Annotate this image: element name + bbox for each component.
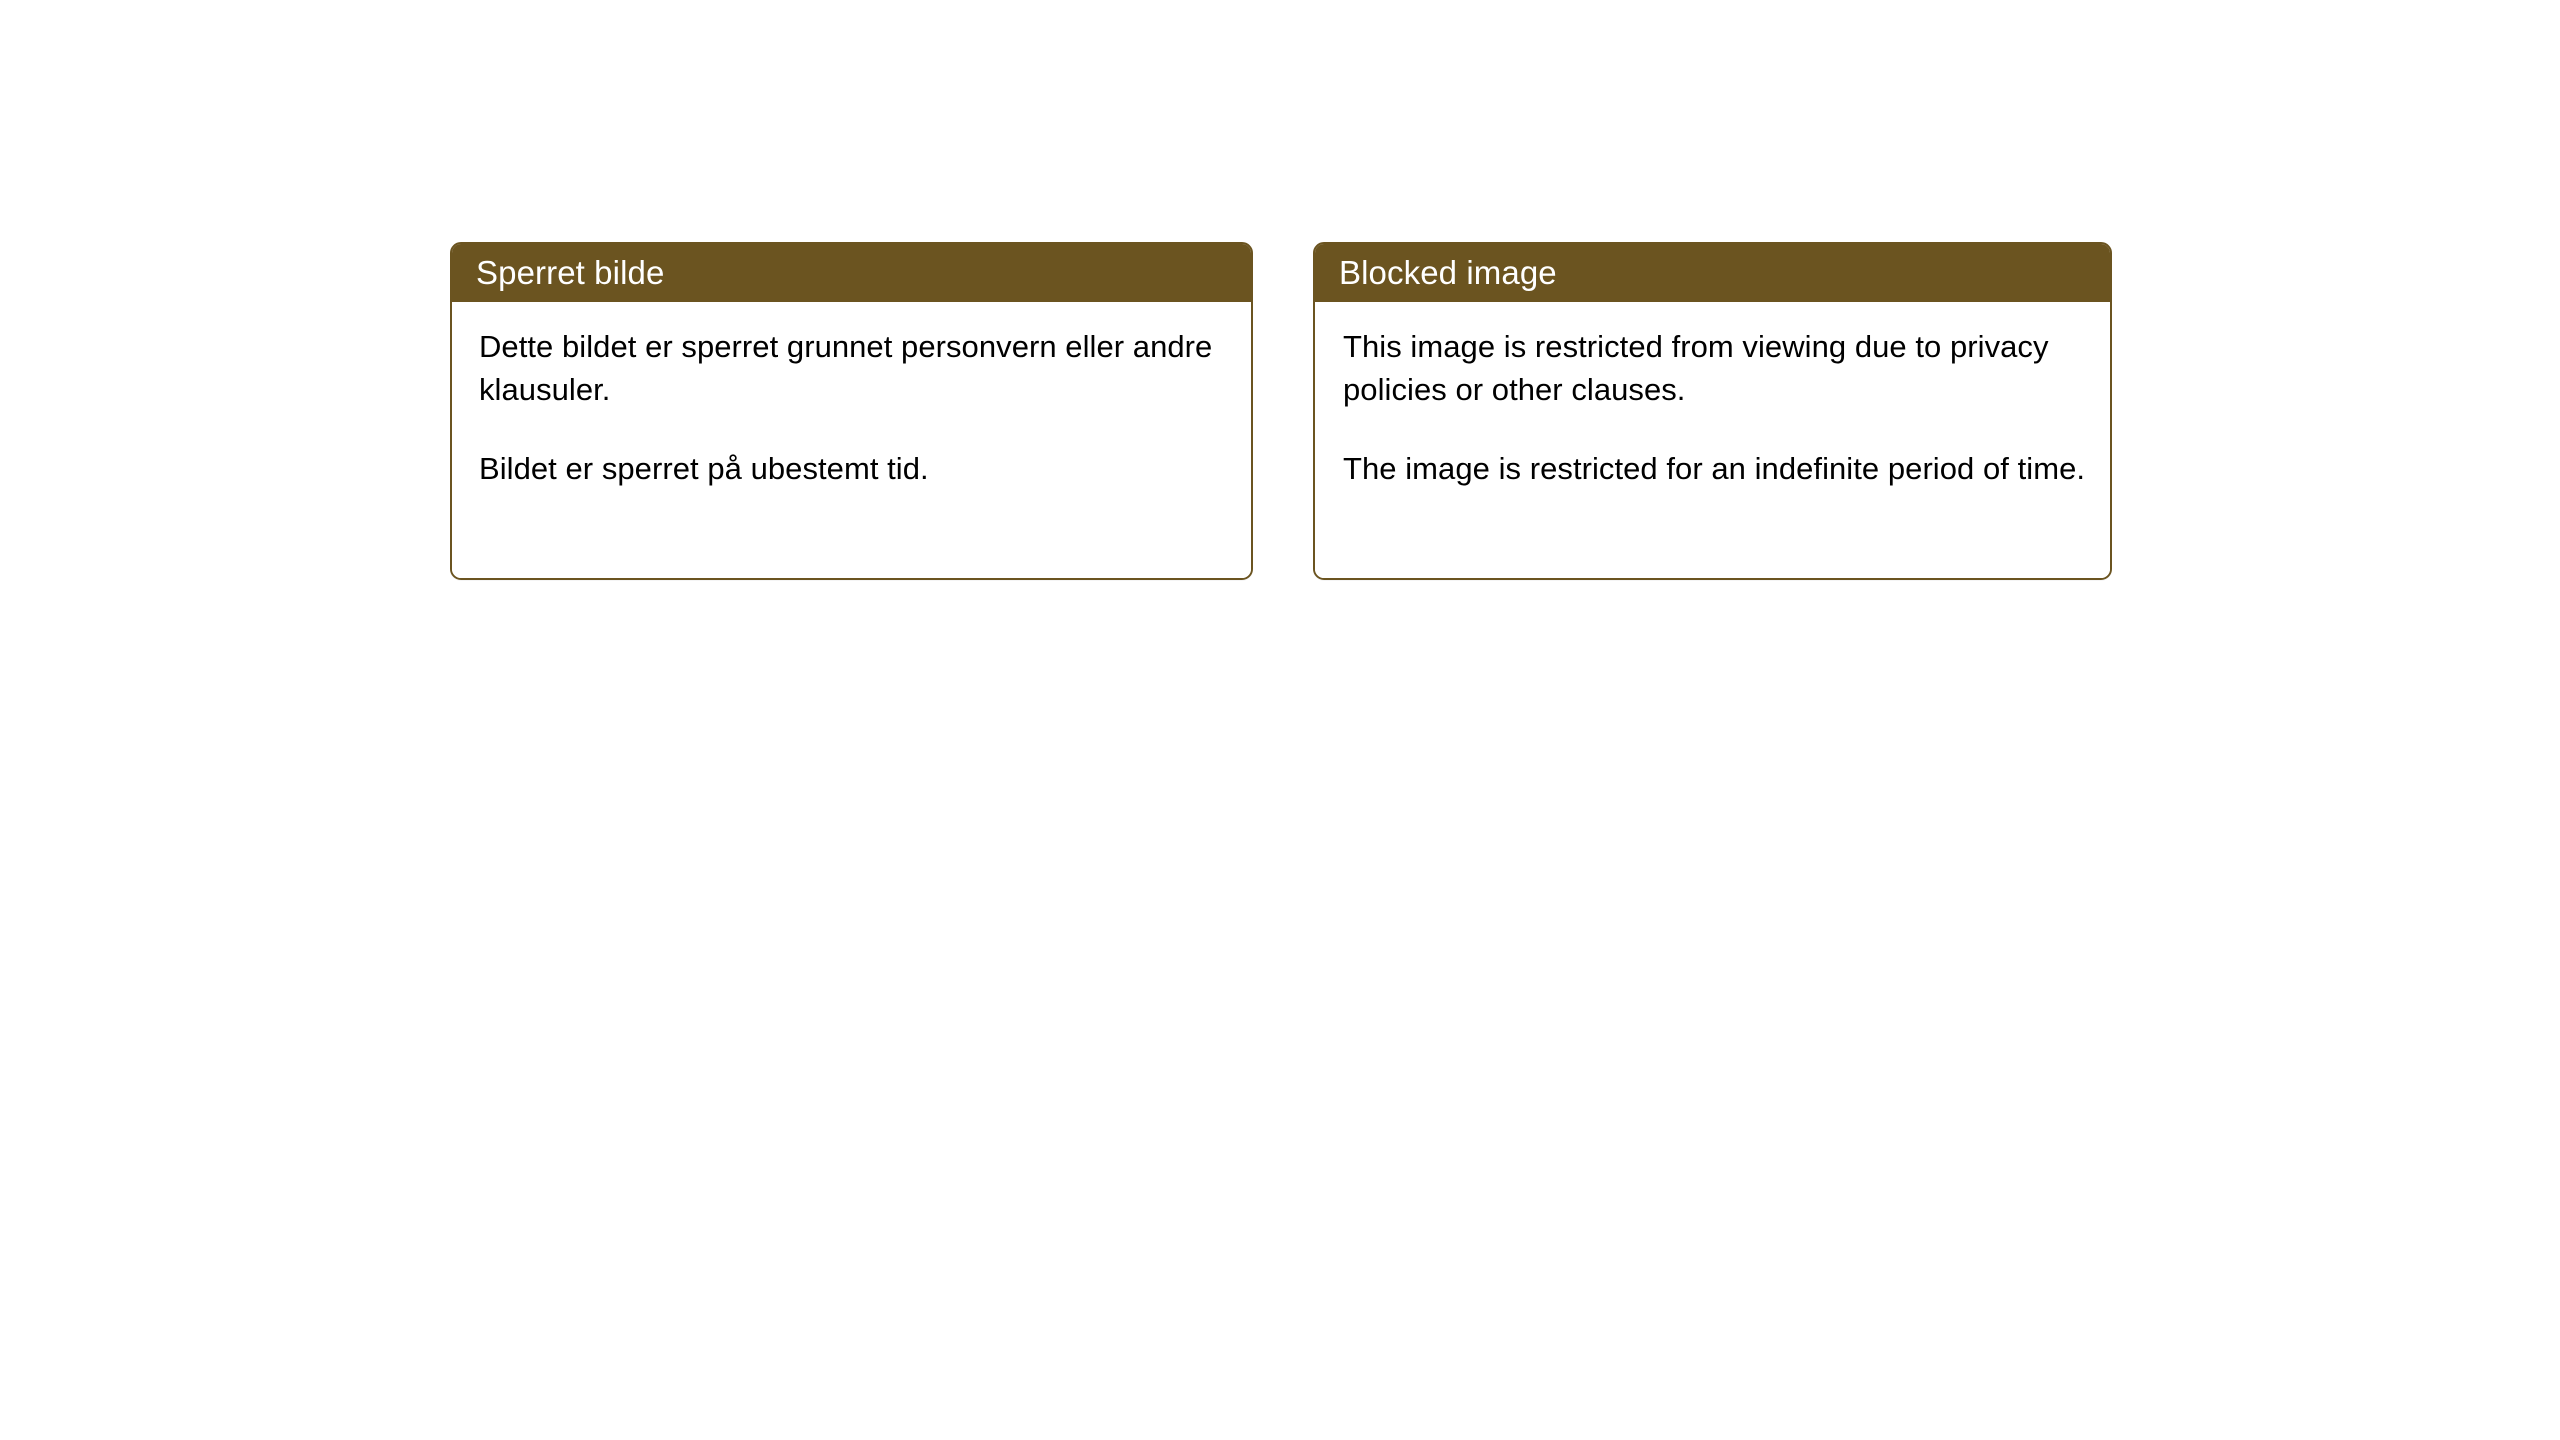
card-header-norwegian: Sperret bilde [452, 244, 1251, 302]
card-header-english: Blocked image [1315, 244, 2110, 302]
card-body-english: This image is restricted from viewing du… [1315, 302, 2110, 578]
card-title-english: Blocked image [1339, 253, 1557, 293]
blocked-image-notice-area: Sperret bilde Dette bildet er sperret gr… [450, 242, 2112, 580]
card-paragraph-duration-norwegian: Bildet er sperret på ubestemt tid. [479, 447, 1231, 490]
blocked-image-card-english: Blocked image This image is restricted f… [1313, 242, 2112, 580]
card-title-norwegian: Sperret bilde [476, 253, 664, 293]
card-paragraph-duration-english: The image is restricted for an indefinit… [1343, 447, 2094, 490]
card-paragraph-reason-english: This image is restricted from viewing du… [1343, 325, 2094, 411]
card-body-norwegian: Dette bildet er sperret grunnet personve… [452, 302, 1251, 578]
card-paragraph-reason-norwegian: Dette bildet er sperret grunnet personve… [479, 325, 1231, 411]
blocked-image-card-norwegian: Sperret bilde Dette bildet er sperret gr… [450, 242, 1253, 580]
